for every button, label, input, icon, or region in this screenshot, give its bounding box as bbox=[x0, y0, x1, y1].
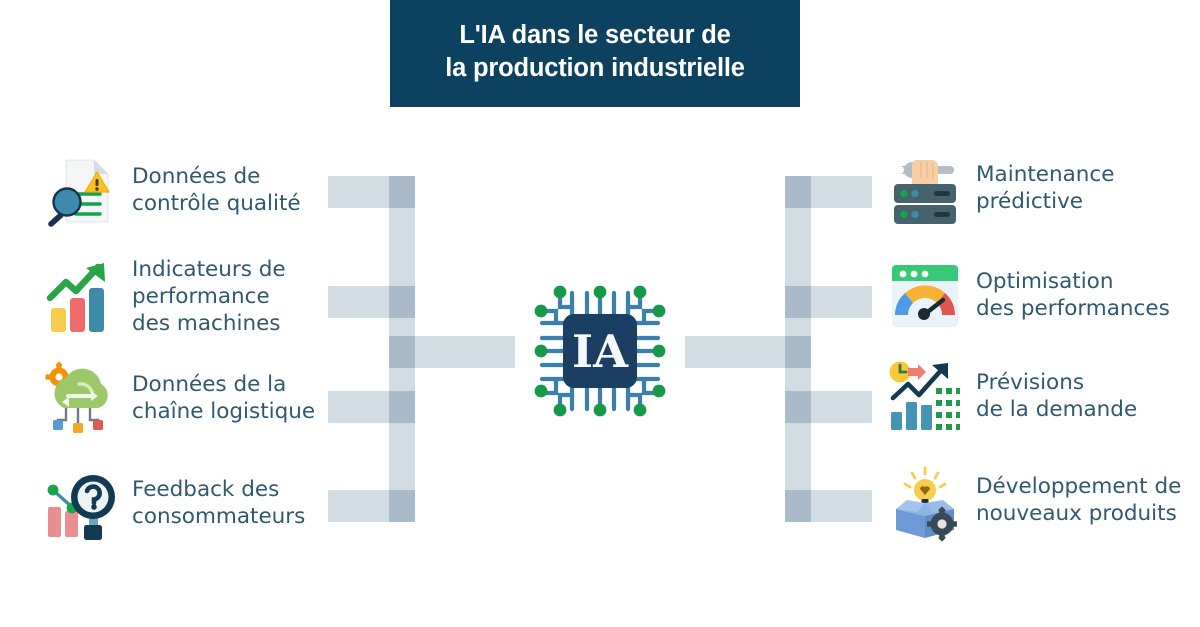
output-item-predictive-maintenance[interactable]: Maintenance prédictive bbox=[886, 150, 1200, 228]
output-item-performance-optimisation[interactable]: Optimisation des performances bbox=[886, 257, 1200, 335]
connector-joint bbox=[389, 490, 415, 522]
ai-chip-icon: IA bbox=[530, 281, 670, 421]
bar-chart-growth-arrow-icon bbox=[42, 258, 120, 336]
cloud-supply-chain-gear-icon bbox=[42, 360, 120, 438]
connector-arm-to-center-left bbox=[389, 336, 515, 368]
connector-rung-right-4 bbox=[785, 490, 872, 522]
diagram-canvas: L'IA dans le secteur de la production in… bbox=[0, 0, 1200, 627]
connector-rung-right-3 bbox=[785, 391, 872, 423]
output-label-new-product-development: Développement de nouveaux produits bbox=[976, 474, 1181, 528]
ai-chip-label: IA bbox=[572, 325, 629, 378]
connector-rung-right-1 bbox=[785, 176, 872, 208]
page-title: L'IA dans le secteur de la production in… bbox=[390, 0, 800, 107]
box-lightbulb-gear-icon bbox=[886, 462, 964, 540]
connector-rung-right-2 bbox=[785, 286, 872, 318]
page-title-text: L'IA dans le secteur de la production in… bbox=[445, 19, 744, 84]
input-item-quality-data[interactable]: Données de contrôle qualité bbox=[42, 152, 342, 230]
input-item-consumer-feedback[interactable]: Feedback des consommateurs bbox=[42, 465, 342, 543]
input-label-machine-kpi: Indicateurs de performance des machines bbox=[132, 257, 286, 338]
browser-gauge-icon bbox=[886, 257, 964, 335]
input-label-supply-chain: Données de la chaîne logistique bbox=[132, 372, 315, 426]
output-label-demand-forecast: Prévisions de la demande bbox=[976, 370, 1137, 424]
connector-joint bbox=[389, 391, 415, 423]
connector-arm-to-center-right bbox=[685, 336, 811, 368]
connector-joint bbox=[389, 336, 415, 368]
input-item-machine-kpi[interactable]: Indicateurs de performance des machines bbox=[42, 257, 342, 338]
output-label-predictive-maintenance: Maintenance prédictive bbox=[976, 162, 1114, 216]
connector-joint bbox=[785, 391, 811, 423]
input-item-supply-chain[interactable]: Données de la chaîne logistique bbox=[42, 360, 342, 438]
input-label-consumer-feedback: Feedback des consommateurs bbox=[132, 477, 305, 531]
connector-joint bbox=[785, 336, 811, 368]
connector-joint bbox=[389, 176, 415, 208]
server-wrench-hand-icon bbox=[886, 150, 964, 228]
output-item-demand-forecast[interactable]: Prévisions de la demande bbox=[886, 358, 1200, 436]
input-label-quality-data: Données de contrôle qualité bbox=[132, 164, 301, 218]
connector-joint bbox=[785, 176, 811, 208]
connector-joint bbox=[785, 286, 811, 318]
connector-joint bbox=[785, 490, 811, 522]
output-label-performance-optimisation: Optimisation des performances bbox=[976, 269, 1170, 323]
question-magnifier-chart-icon bbox=[42, 465, 120, 543]
output-item-new-product-development[interactable]: Développement de nouveaux produits bbox=[886, 462, 1200, 540]
forecast-clock-arrow-chart-icon bbox=[886, 358, 964, 436]
quality-document-magnifier-icon bbox=[42, 152, 120, 230]
connector-joint bbox=[389, 286, 415, 318]
